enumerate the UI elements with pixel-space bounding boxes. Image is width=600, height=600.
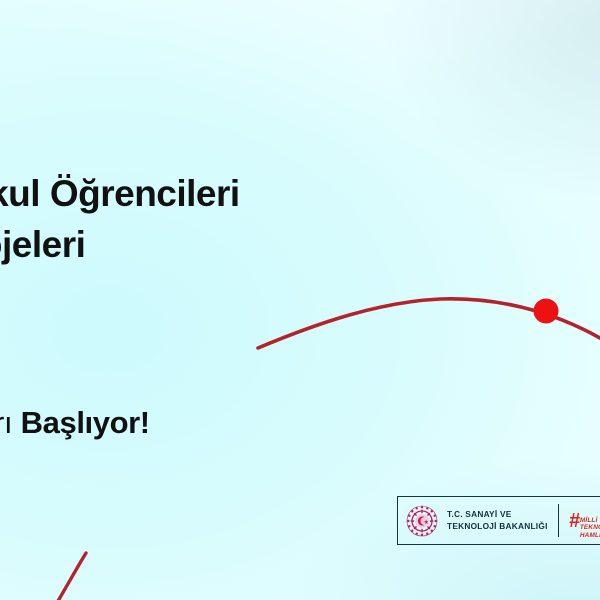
- ministry-name-text: T.C. SANAYİ VE TEKNOLOJİ BAKANLIĞI: [447, 509, 548, 533]
- subtitle: maları Başlıyor!: [0, 404, 388, 441]
- campaign-name-text: MİLLİ TEKNOLOJİ HAMLESİ: [580, 517, 600, 540]
- logo-lockup: T.C. SANAYİ VE TEKNOLOJİ BAKANLIĞI # MİL…: [397, 496, 600, 545]
- subtitle-light-part: maları: [0, 405, 21, 440]
- ministry-emblem-icon: [406, 505, 438, 537]
- milli-teknoloji-hamlesi-logo: # MİLLİ TEKNOLOJİ HAMLESİ: [568, 511, 580, 531]
- subtitle-bold-part: Başlıyor!: [21, 405, 150, 440]
- logo-divider: [558, 504, 559, 537]
- hashtag-icon: #: [569, 511, 580, 531]
- slide-canvas: okul Öğrencileri rojeleri maları Başlıyo…: [0, 0, 600, 600]
- page-title: okul Öğrencileri rojeleri: [0, 168, 386, 270]
